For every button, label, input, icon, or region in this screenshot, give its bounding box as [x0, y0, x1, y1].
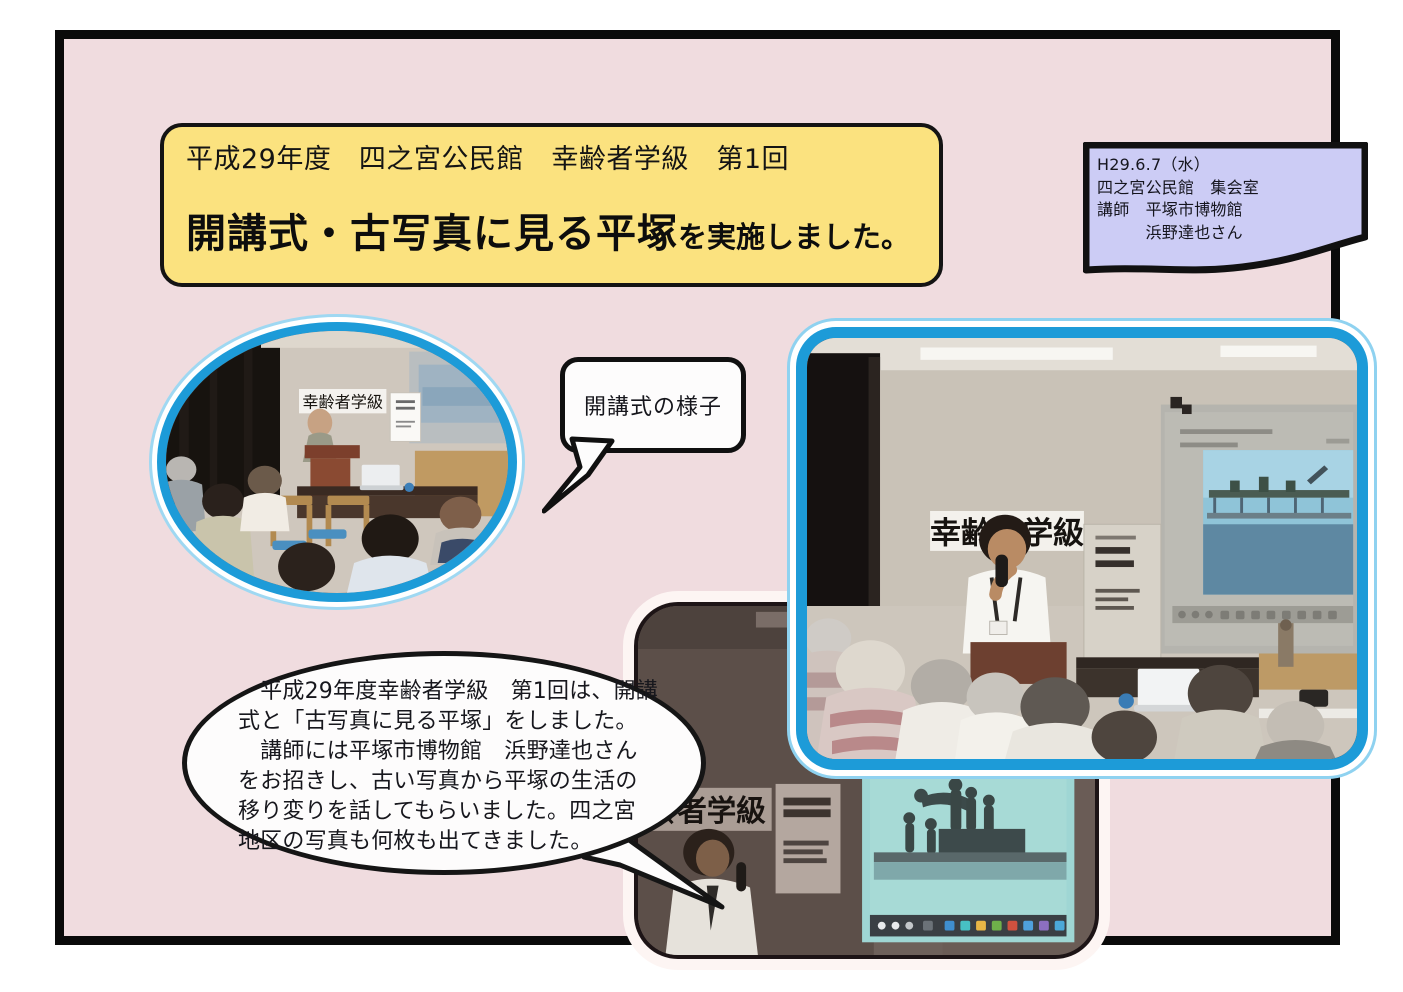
photo-opening-ceremony-oval: 幸齢者学級: [157, 322, 517, 602]
title-heading-suffix: を実施しました。: [678, 220, 910, 254]
title-subheading: 平成29年度 四之宮公民館 幸齢者学級 第1回: [186, 143, 919, 177]
photo-main-image: 幸齢者学級: [807, 338, 1357, 759]
callout-small-tail: [542, 435, 637, 515]
callout-summary: 平成29年度幸齢者学級 第1回は、開講式と「古写真に見る平塚」をしました。 講師…: [182, 651, 728, 913]
callout-small-label: 開講式の様子: [584, 389, 722, 421]
poster-page: 平成29年度 四之宮公民館 幸齢者学級 第1回 開講式・古写真に見る平塚を実施し…: [0, 0, 1403, 992]
callout-opening-ceremony: 開講式の様子: [560, 357, 746, 453]
title-heading-row: 開講式・古写真に見る平塚を実施しました。: [186, 201, 919, 259]
poster-frame: 平成29年度 四之宮公民館 幸齢者学級 第1回 開講式・古写真に見る平塚を実施し…: [55, 30, 1340, 945]
photo-main-lecture: 幸齢者学級: [796, 327, 1368, 770]
event-info-note: H29.6.7（水） 四之宮公民館 集会室 講師 平塚市博物館 浜野達也さん: [1083, 142, 1368, 279]
info-note-text: H29.6.7（水） 四之宮公民館 集会室 講師 平塚市博物館 浜野達也さん: [1097, 154, 1359, 245]
photo-oval-image: 幸齢者学級: [166, 331, 508, 593]
title-banner: 平成29年度 四之宮公民館 幸齢者学級 第1回 開講式・古写真に見る平塚を実施し…: [160, 123, 943, 287]
title-main-heading: 開講式・古写真に見る平塚: [186, 211, 678, 257]
svg-text:幸齢者学級: 幸齢者学級: [302, 393, 383, 412]
callout-summary-text: 平成29年度幸齢者学級 第1回は、開講式と「古写真に見る平塚」をしました。 講師…: [238, 677, 658, 856]
